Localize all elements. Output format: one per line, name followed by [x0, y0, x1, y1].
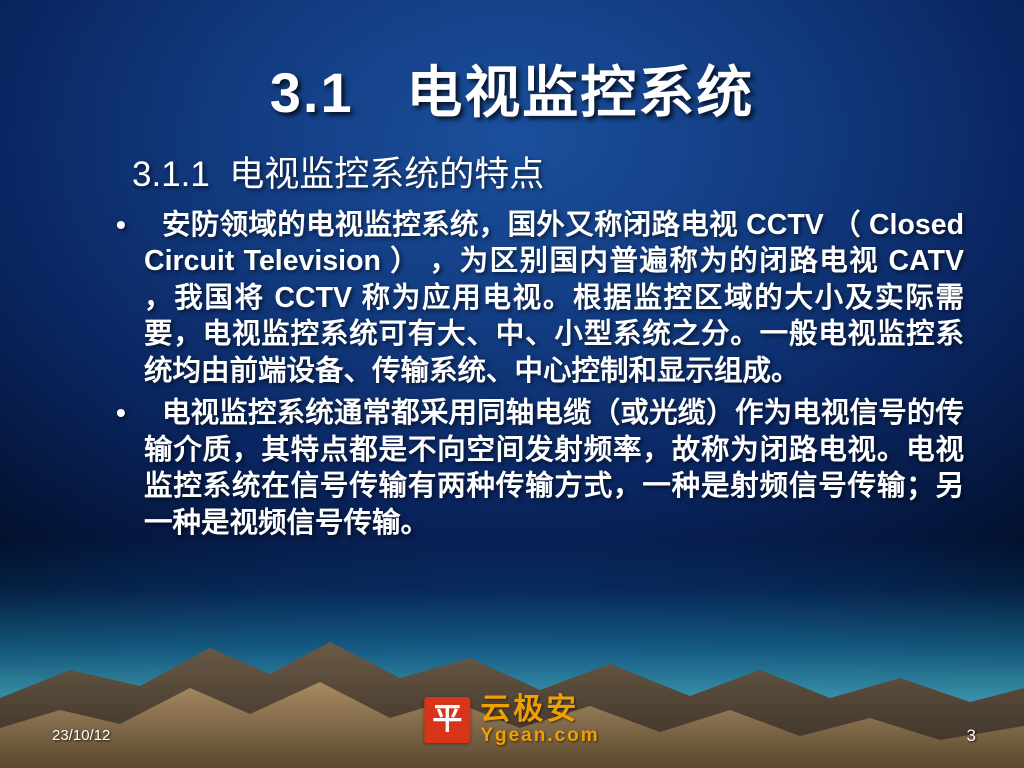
slide-date: 23/10/12 [52, 727, 110, 744]
bullet-text: 安防领域的电视监控系统，国外又称闭路电视 CCTV （ Closed Circu… [144, 207, 964, 389]
logo-mark-icon: 平 [424, 697, 470, 743]
logo-text: 云极安 Ygean.com [480, 695, 599, 745]
logo-mark-glyph: 平 [424, 705, 470, 735]
bullet-item: • 电视监控系统通常都采用同轴电缆（或光缆）作为电视信号的传输介质，其特点都是不… [104, 395, 964, 541]
bullet-item: • 安防领域的电视监控系统，国外又称闭路电视 CCTV （ Closed Cir… [104, 207, 964, 389]
slide-subtitle: 3.1.1 电视监控系统的特点 [132, 146, 964, 197]
slide-body: 3.1.1 电视监控系统的特点 • 安防领域的电视监控系统，国外又称闭路电视 C… [104, 146, 964, 547]
logo-name-cn: 云极安 [480, 695, 599, 726]
slide-title: 3.1 电视监控系统 [0, 48, 1024, 129]
bullet-text: 电视监控系统通常都采用同轴电缆（或光缆）作为电视信号的传输介质，其特点都是不向空… [144, 395, 964, 541]
bullet-marker-icon: • [116, 395, 126, 431]
bullet-marker-icon: • [116, 207, 126, 243]
logo-name-en: Ygean.com [480, 726, 599, 745]
watermark-logo: 平 云极安 Ygean.com [424, 692, 599, 748]
presentation-slide: 3.1 电视监控系统 3.1.1 电视监控系统的特点 • 安防领域的电视监控系统… [0, 0, 1024, 768]
slide-page-number: 3 [967, 726, 976, 746]
